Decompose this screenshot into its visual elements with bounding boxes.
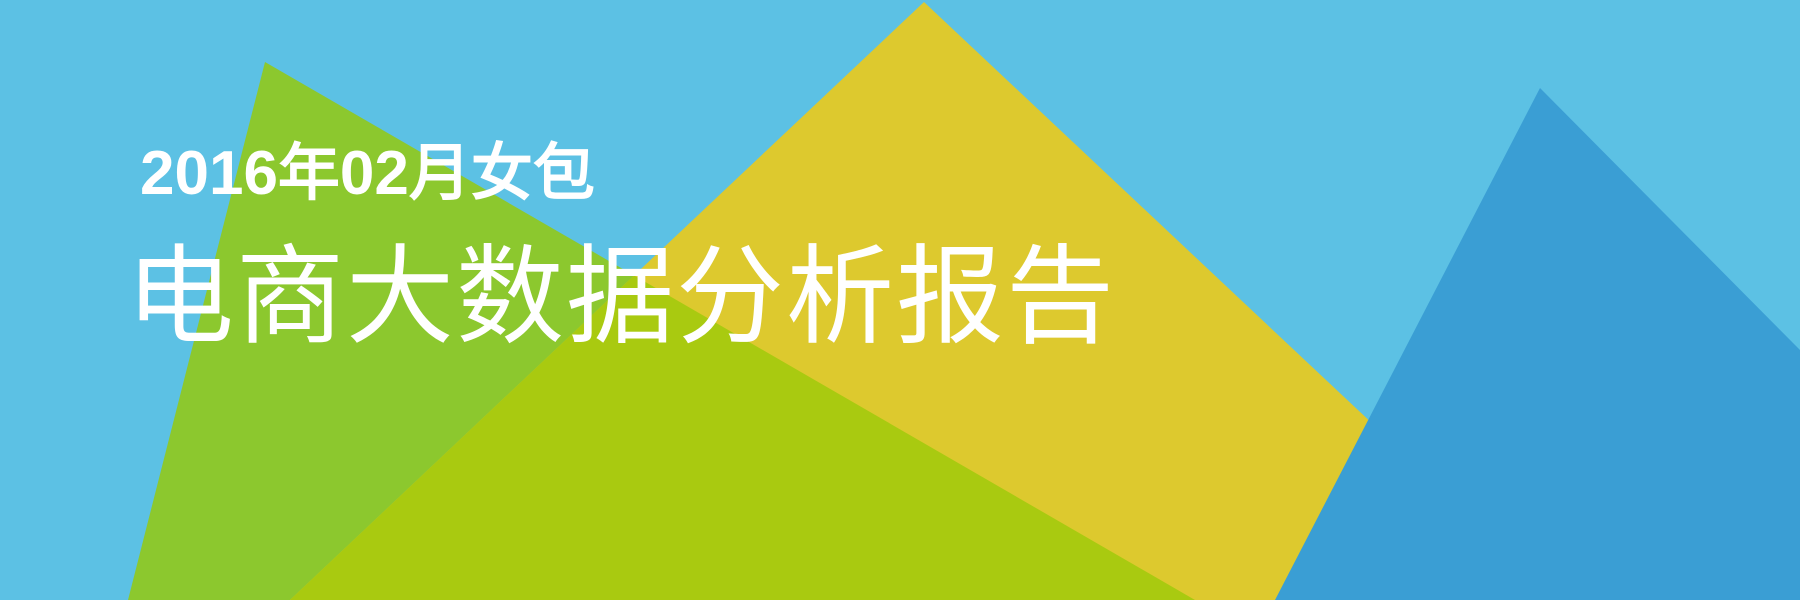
- background-geometry: [0, 0, 1800, 600]
- report-cover-banner: 2016年02月女包 电商大数据分析报告: [0, 0, 1800, 600]
